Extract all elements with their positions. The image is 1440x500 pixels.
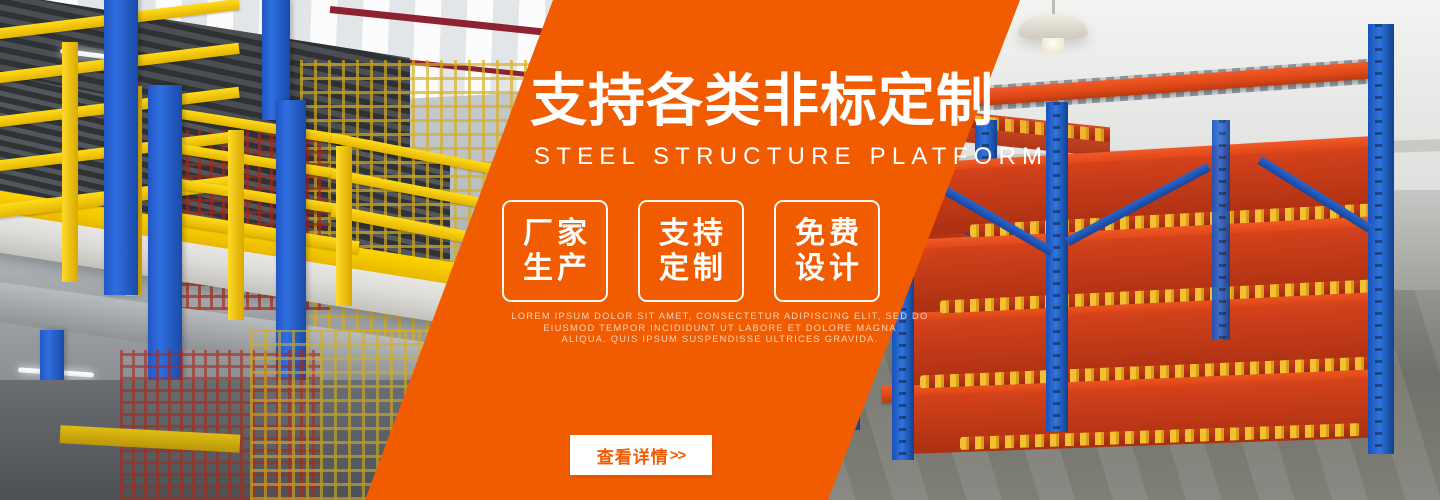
lorem-paragraph: LOREM IPSUM DOLOR SIT AMET, CONSECTETUR … [400, 311, 1040, 346]
lorem-line-2: EIUSMOD TEMPOR INCIDIDUNT UT LABORE ET D… [400, 323, 1040, 335]
cta-label: 查看详情 [597, 443, 669, 468]
badge-line-2: 定制 [655, 251, 727, 286]
feature-badges: 厂家 生产 支持 定制 免费 设计 [502, 200, 880, 302]
lorem-line-3: ALIQUA. QUIS IPSUM SUSPENDISSE ULTRICES … [400, 334, 1040, 346]
badge-customization: 支持 定制 [638, 200, 744, 302]
banner-content: 支持各类非标定制 STEEL STRUCTURE PLATFORM 厂家 生产 … [0, 0, 1440, 500]
badge-line-1: 支持 [655, 216, 727, 251]
badge-line-2: 设计 [791, 251, 863, 286]
badge-line-2: 生产 [519, 251, 591, 286]
view-details-button[interactable]: 查看详情 >> [570, 435, 712, 475]
badge-line-1: 厂家 [519, 216, 591, 251]
badge-line-1: 免费 [791, 216, 863, 251]
promo-banner: 支持各类非标定制 STEEL STRUCTURE PLATFORM 厂家 生产 … [0, 0, 1440, 500]
badge-manufacturer: 厂家 生产 [502, 200, 608, 302]
badge-free-design: 免费 设计 [774, 200, 880, 302]
headline: 支持各类非标定制 [530, 73, 994, 130]
subtitle: STEEL STRUCTURE PLATFORM [534, 145, 1048, 169]
lorem-line-1: LOREM IPSUM DOLOR SIT AMET, CONSECTETUR … [400, 311, 1040, 323]
cta-arrows-icon: >> [670, 447, 686, 464]
